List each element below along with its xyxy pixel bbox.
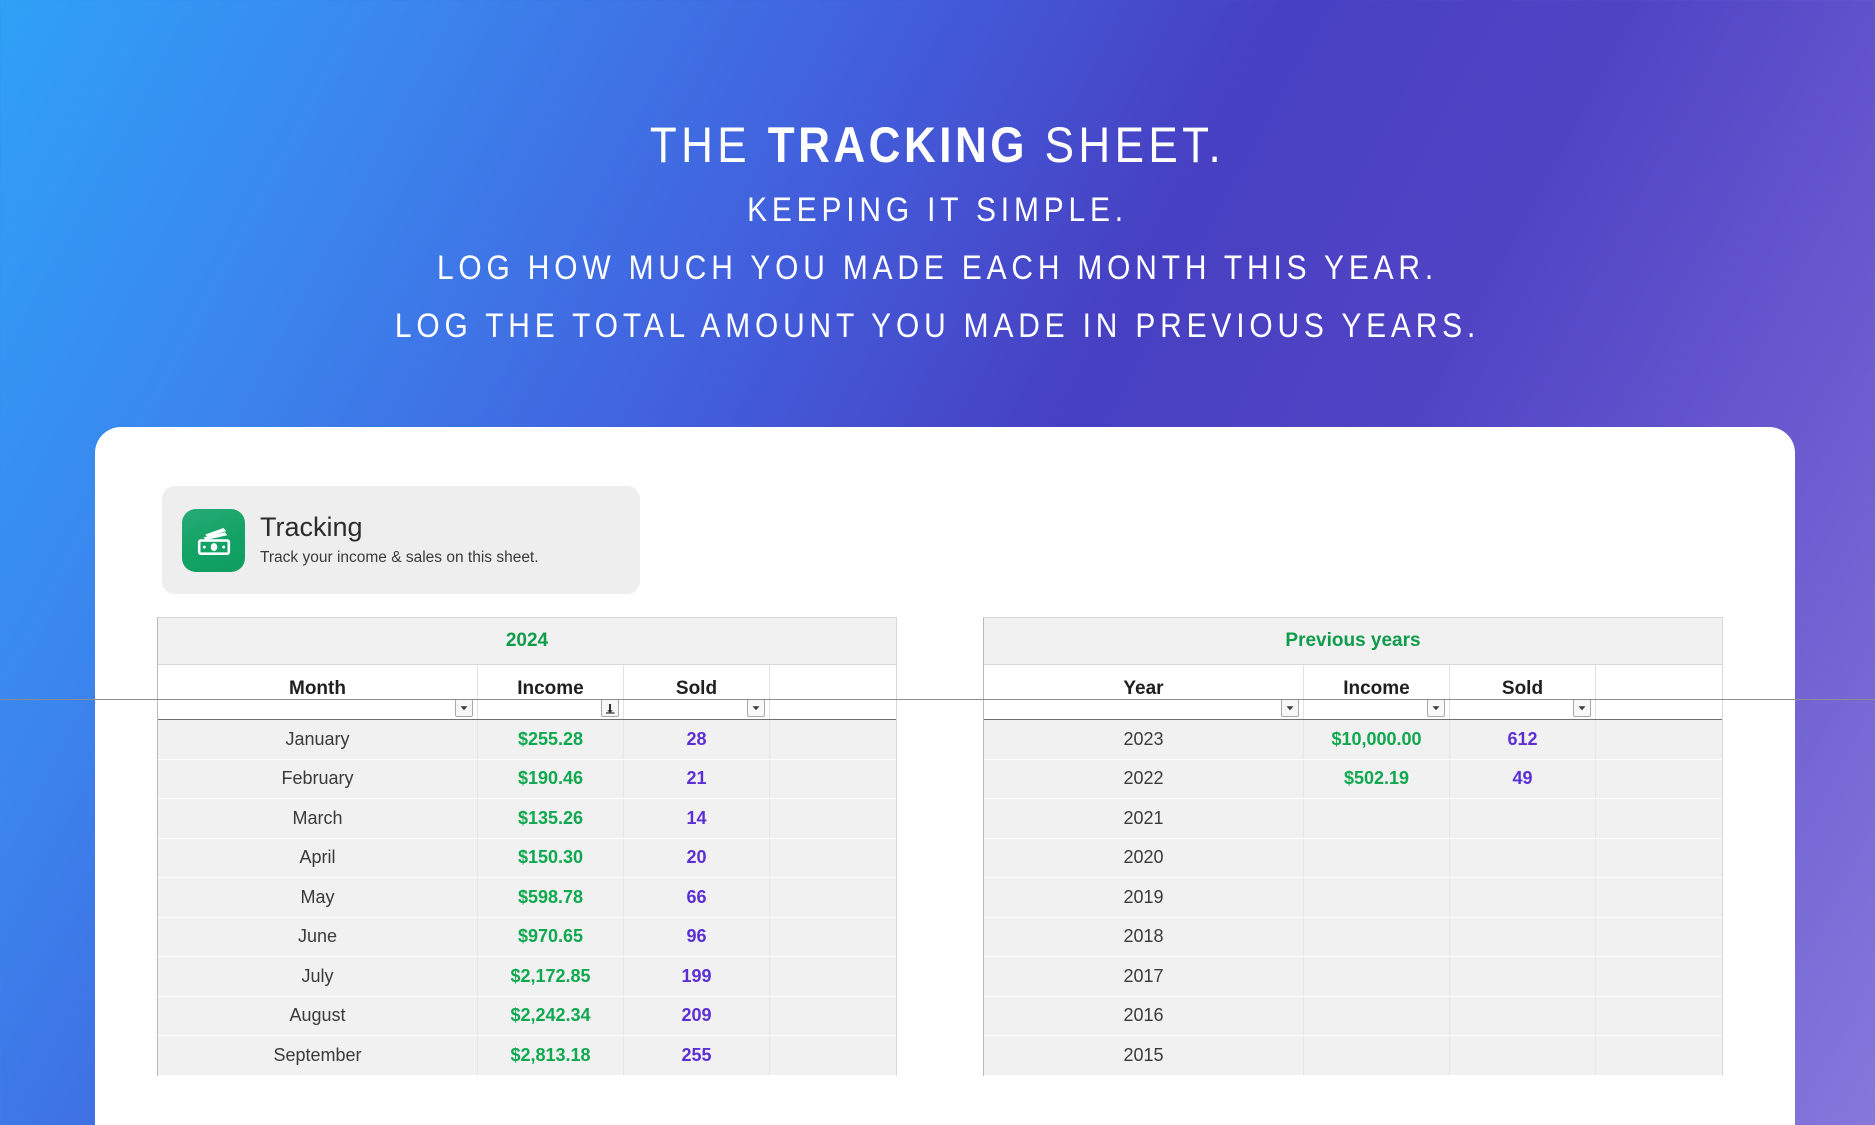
cell-year[interactable]: 2022 bbox=[984, 760, 1304, 799]
table-row: February$190.4621 bbox=[158, 760, 896, 800]
hero-title-emphasis: TRACKING bbox=[768, 117, 1028, 173]
cell-spacer bbox=[1596, 720, 1722, 759]
cell-sold[interactable]: 66 bbox=[624, 878, 770, 917]
column-header-income[interactable]: Income bbox=[1304, 665, 1450, 719]
filter-sorted-icon[interactable] bbox=[601, 699, 619, 717]
table-row: May$598.7866 bbox=[158, 878, 896, 918]
cell-sold[interactable] bbox=[1450, 839, 1596, 878]
table-row: June$970.6596 bbox=[158, 918, 896, 958]
hero-subtitle: KEEPING IT SIMPLE. bbox=[113, 170, 1763, 227]
column-header-spacer bbox=[770, 665, 896, 719]
hero-header: THE TRACKING SHEET. KEEPING IT SIMPLE. L… bbox=[0, 0, 1875, 343]
cell-income[interactable]: $135.26 bbox=[478, 799, 624, 838]
cell-spacer bbox=[770, 997, 896, 1036]
cell-spacer bbox=[770, 839, 896, 878]
cell-year[interactable]: 2023 bbox=[984, 720, 1304, 759]
table-row: 2017 bbox=[984, 957, 1722, 997]
filter-dropdown-icon[interactable] bbox=[747, 699, 765, 717]
tracking-info-card: Tracking Track your income & sales on th… bbox=[162, 486, 640, 594]
cell-sold[interactable] bbox=[1450, 957, 1596, 996]
column-header-label: Sold bbox=[676, 678, 717, 700]
table-current-year: 2024MonthIncomeSoldJanuary$255.2828Febru… bbox=[157, 617, 897, 1076]
table-previous-years: Previous yearsYearIncomeSold2023$10,000.… bbox=[983, 617, 1723, 1076]
cell-spacer bbox=[770, 799, 896, 838]
cell-spacer bbox=[1596, 839, 1722, 878]
cell-sold[interactable]: 612 bbox=[1450, 720, 1596, 759]
hero-title-pre: THE bbox=[650, 117, 768, 173]
cell-spacer bbox=[1596, 918, 1722, 957]
table-title-band: Previous years bbox=[984, 618, 1722, 665]
cell-spacer bbox=[1596, 878, 1722, 917]
table-row: 2019 bbox=[984, 878, 1722, 918]
cell-spacer bbox=[770, 1036, 896, 1075]
table-row: March$135.2614 bbox=[158, 799, 896, 839]
cell-income[interactable]: $255.28 bbox=[478, 720, 624, 759]
table-row: 2023$10,000.00612 bbox=[984, 720, 1722, 760]
table-row: 2018 bbox=[984, 918, 1722, 958]
table-row: January$255.2828 bbox=[158, 720, 896, 760]
cell-sold[interactable] bbox=[1450, 878, 1596, 917]
column-header-label: Income bbox=[1343, 678, 1410, 700]
filter-dropdown-icon[interactable] bbox=[1427, 699, 1445, 717]
cell-sold[interactable] bbox=[1450, 1036, 1596, 1075]
cell-sold[interactable]: 20 bbox=[624, 839, 770, 878]
cell-income[interactable] bbox=[1304, 839, 1450, 878]
hero-instruction-1: LOG HOW MUCH YOU MADE EACH MONTH THIS YE… bbox=[113, 227, 1763, 285]
hero-title-post: SHEET. bbox=[1028, 117, 1225, 173]
cell-income[interactable]: $2,172.85 bbox=[478, 957, 624, 996]
cell-spacer bbox=[770, 760, 896, 799]
cell-income[interactable]: $190.46 bbox=[478, 760, 624, 799]
cell-income[interactable] bbox=[1304, 878, 1450, 917]
column-header-income[interactable]: Income bbox=[478, 665, 624, 719]
cell-sold[interactable]: 96 bbox=[624, 918, 770, 957]
table-row: 2022$502.1949 bbox=[984, 760, 1722, 800]
cell-year[interactable]: 2021 bbox=[984, 799, 1304, 838]
cell-income[interactable] bbox=[1304, 918, 1450, 957]
cell-spacer bbox=[770, 957, 896, 996]
column-header-label: Month bbox=[289, 678, 346, 700]
cell-sold[interactable] bbox=[1450, 997, 1596, 1036]
cell-spacer bbox=[770, 720, 896, 759]
cell-month[interactable]: January bbox=[158, 720, 478, 759]
cell-income[interactable]: $150.30 bbox=[478, 839, 624, 878]
cell-month[interactable]: July bbox=[158, 957, 478, 996]
cell-year[interactable]: 2017 bbox=[984, 957, 1304, 996]
cell-year[interactable]: 2018 bbox=[984, 918, 1304, 957]
table-row: 2016 bbox=[984, 997, 1722, 1037]
table-title: Previous years bbox=[1285, 630, 1420, 652]
cell-sold[interactable]: 209 bbox=[624, 997, 770, 1036]
hero-title: THE TRACKING SHEET. bbox=[113, 0, 1763, 170]
table-row: 2021 bbox=[984, 799, 1722, 839]
table-row: April$150.3020 bbox=[158, 839, 896, 879]
cell-month[interactable]: February bbox=[158, 760, 478, 799]
cell-spacer bbox=[1596, 799, 1722, 838]
cell-sold[interactable]: 199 bbox=[624, 957, 770, 996]
column-header-label: Sold bbox=[1502, 678, 1543, 700]
cell-sold[interactable]: 21 bbox=[624, 760, 770, 799]
column-header-month[interactable]: Month bbox=[158, 665, 478, 719]
filter-dropdown-icon[interactable] bbox=[1281, 699, 1299, 717]
cell-spacer bbox=[770, 918, 896, 957]
table-row: July$2,172.85199 bbox=[158, 957, 896, 997]
cell-sold[interactable]: 28 bbox=[624, 720, 770, 759]
column-header-year[interactable]: Year bbox=[984, 665, 1304, 719]
cell-income[interactable] bbox=[1304, 1036, 1450, 1075]
column-header-sold[interactable]: Sold bbox=[1450, 665, 1596, 719]
cell-spacer bbox=[1596, 1036, 1722, 1075]
cell-month[interactable]: April bbox=[158, 839, 478, 878]
cell-income[interactable]: $2,813.18 bbox=[478, 1036, 624, 1075]
tracking-card-text: Tracking Track your income & sales on th… bbox=[260, 513, 539, 568]
cell-year[interactable]: 2015 bbox=[984, 1036, 1304, 1075]
cell-income[interactable] bbox=[1304, 997, 1450, 1036]
column-header-spacer bbox=[1596, 665, 1722, 719]
cell-month[interactable]: August bbox=[158, 997, 478, 1036]
cell-income[interactable]: $598.78 bbox=[478, 878, 624, 917]
cell-year[interactable]: 2019 bbox=[984, 878, 1304, 917]
table-header-row: MonthIncomeSold bbox=[158, 665, 896, 720]
cell-month[interactable]: March bbox=[158, 799, 478, 838]
table-row: September$2,813.18255 bbox=[158, 1036, 896, 1076]
cell-sold[interactable] bbox=[1450, 799, 1596, 838]
cell-month[interactable]: May bbox=[158, 878, 478, 917]
cell-income[interactable] bbox=[1304, 799, 1450, 838]
table-row: August$2,242.34209 bbox=[158, 997, 896, 1037]
filter-dropdown-icon[interactable] bbox=[1573, 699, 1591, 717]
cell-month[interactable]: June bbox=[158, 918, 478, 957]
cell-spacer bbox=[770, 878, 896, 917]
tracking-card-subtitle: Track your income & sales on this sheet. bbox=[260, 542, 539, 567]
cell-income[interactable]: $970.65 bbox=[478, 918, 624, 957]
table-header-row: YearIncomeSold bbox=[984, 665, 1722, 720]
money-stack-icon bbox=[182, 509, 245, 572]
table-row: 2015 bbox=[984, 1036, 1722, 1076]
cell-spacer bbox=[1596, 760, 1722, 799]
cell-spacer bbox=[1596, 997, 1722, 1036]
cell-spacer bbox=[1596, 957, 1722, 996]
cell-sold[interactable] bbox=[1450, 918, 1596, 957]
column-header-label: Year bbox=[1123, 678, 1163, 700]
table-title-band: 2024 bbox=[158, 618, 896, 665]
cell-sold[interactable]: 49 bbox=[1450, 760, 1596, 799]
table-title: 2024 bbox=[506, 630, 548, 652]
cell-sold[interactable]: 255 bbox=[624, 1036, 770, 1075]
cell-income[interactable]: $2,242.34 bbox=[478, 997, 624, 1036]
cell-sold[interactable]: 14 bbox=[624, 799, 770, 838]
filter-dropdown-icon[interactable] bbox=[455, 699, 473, 717]
cell-income[interactable] bbox=[1304, 957, 1450, 996]
cell-year[interactable]: 2016 bbox=[984, 997, 1304, 1036]
cell-month[interactable]: September bbox=[158, 1036, 478, 1075]
tracking-card-title: Tracking bbox=[260, 513, 539, 543]
cell-income[interactable]: $502.19 bbox=[1304, 760, 1450, 799]
table-row: 2020 bbox=[984, 839, 1722, 879]
cell-year[interactable]: 2020 bbox=[984, 839, 1304, 878]
column-header-sold[interactable]: Sold bbox=[624, 665, 770, 719]
hero-instruction-2: LOG THE TOTAL AMOUNT YOU MADE IN PREVIOU… bbox=[113, 285, 1763, 343]
cell-income[interactable]: $10,000.00 bbox=[1304, 720, 1450, 759]
column-header-label: Income bbox=[517, 678, 584, 700]
